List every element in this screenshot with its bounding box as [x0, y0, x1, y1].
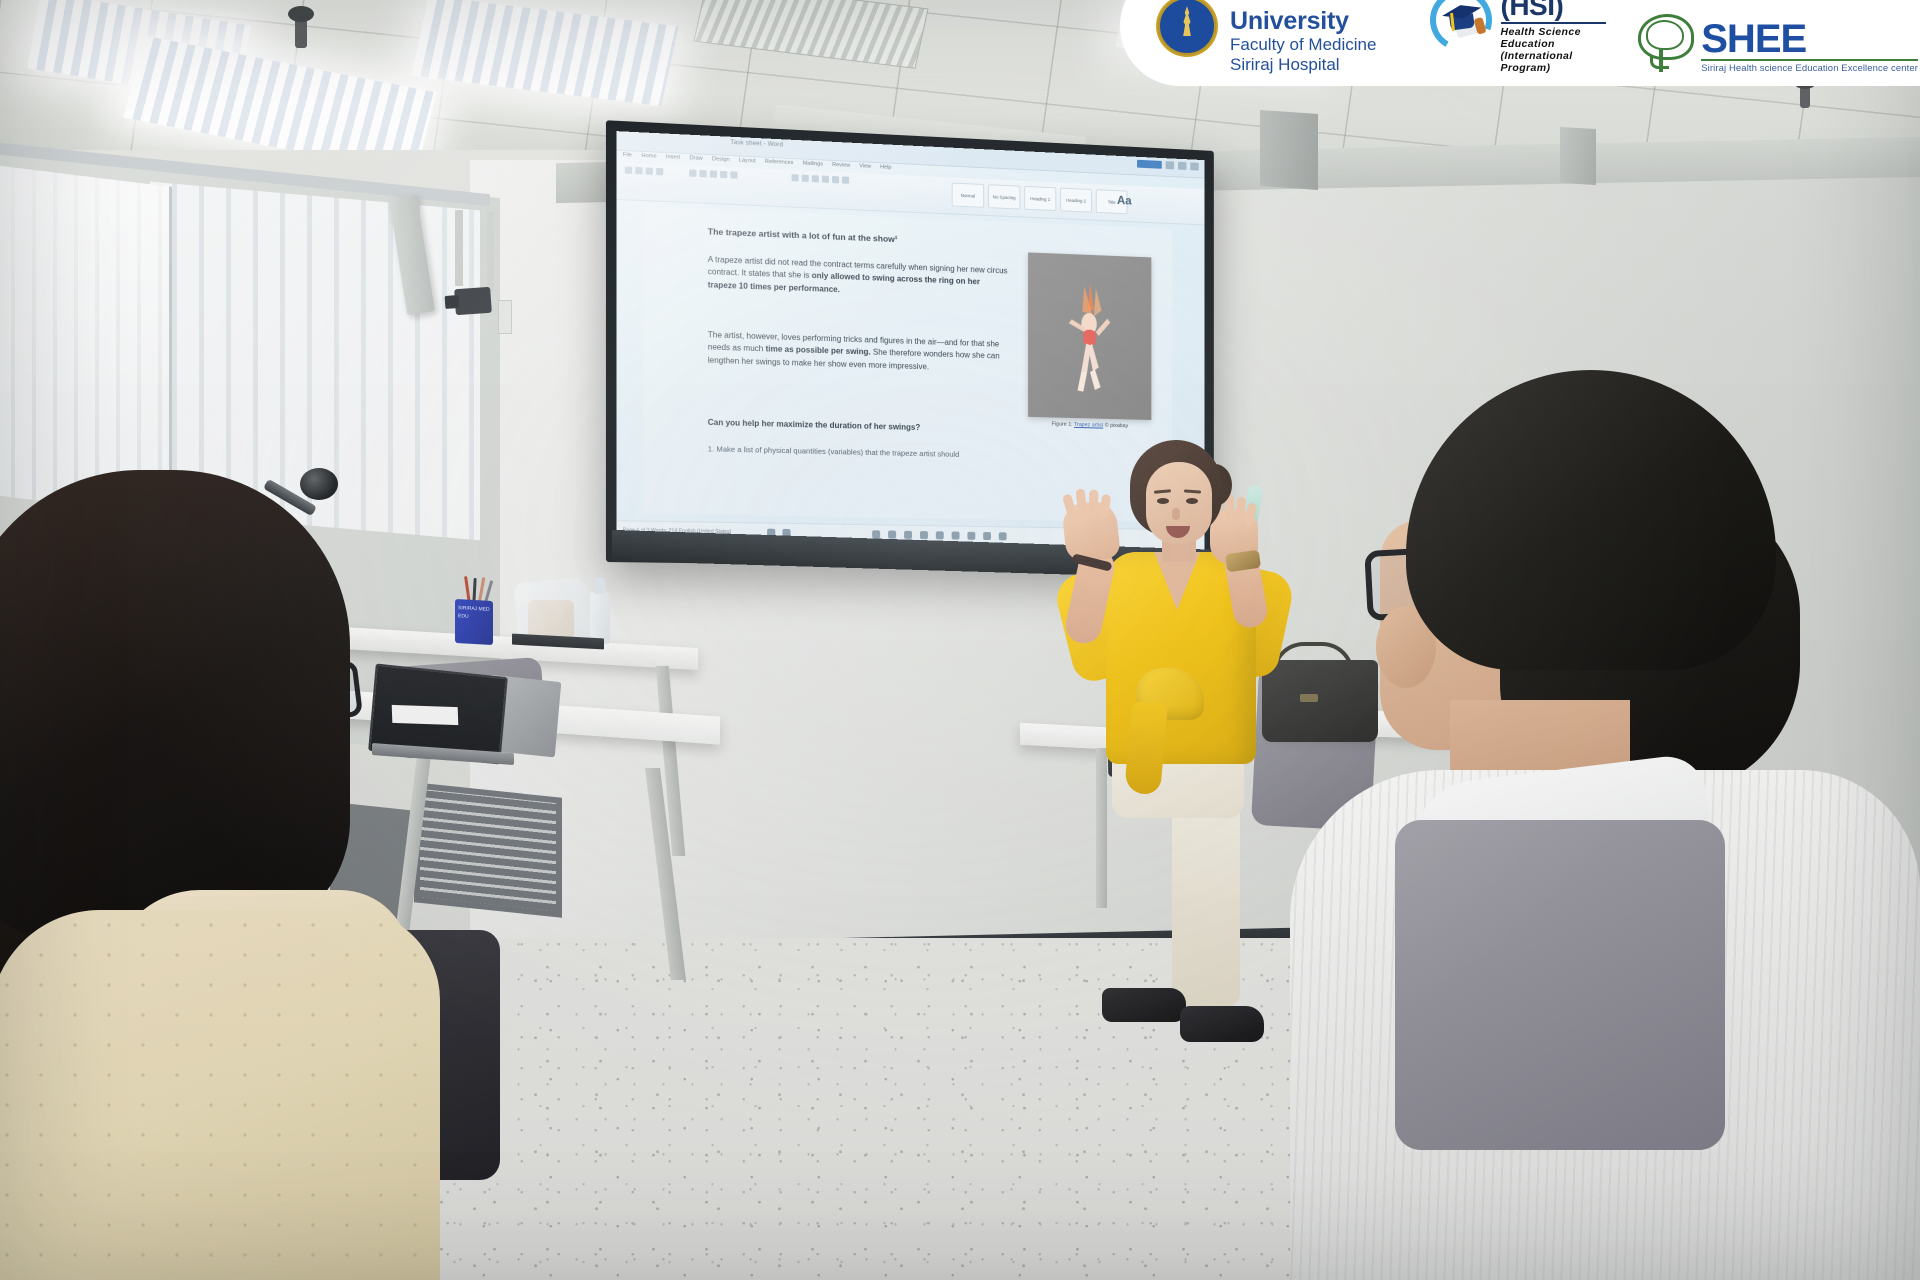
eye — [1186, 498, 1198, 504]
line-spacing-icon[interactable] — [842, 176, 849, 183]
align-left-icon[interactable] — [812, 175, 819, 182]
mahidol-line-2: Faculty of Medicine — [1230, 35, 1404, 54]
hand-sanitizer[interactable] — [590, 592, 610, 644]
chair[interactable] — [1395, 820, 1725, 1150]
tab-insert[interactable]: Insert — [666, 154, 680, 161]
mail-icon[interactable] — [920, 531, 928, 539]
eye — [1157, 498, 1169, 504]
finger — [1076, 488, 1088, 519]
presenter-shoe — [1180, 1006, 1264, 1042]
acrobat-illustration-icon — [1065, 280, 1115, 400]
bullets-icon[interactable] — [792, 174, 799, 181]
italic-icon[interactable] — [700, 170, 707, 177]
numbering-icon[interactable] — [802, 175, 809, 182]
mahidol-logo: Mahidol University Faculty of Medicine S… — [1156, 0, 1404, 74]
copy-icon[interactable] — [646, 167, 653, 174]
seal-ring — [1158, 0, 1216, 55]
tree-icon — [1632, 12, 1694, 74]
sprinkler-icon — [295, 14, 307, 48]
graduation-cap-icon — [1430, 0, 1492, 51]
shee-title: SHEE — [1701, 22, 1918, 56]
msc-subtitle-2: (International Program) — [1501, 50, 1607, 74]
msc-hsi-logo: M.Sc.(HSI) Health Science Education (Int… — [1430, 0, 1607, 74]
presenter-person — [1050, 440, 1330, 1080]
style-heading-2[interactable]: Heading 2 — [1060, 188, 1092, 213]
align-right-icon[interactable] — [832, 176, 839, 183]
audience-left-person — [0, 470, 480, 1280]
msc-subtitle-1: Health Science Education — [1501, 26, 1607, 50]
projector-mount — [455, 210, 463, 286]
format-painter-icon[interactable] — [656, 168, 663, 175]
document-figure-wrapper: Figure 1: Trapez artist © pixabay — [1028, 252, 1151, 429]
document-paragraph-1: A trapeze artist did not read the contra… — [708, 254, 1009, 303]
logo-bar: Mahidol University Faculty of Medicine S… — [1120, 0, 1920, 86]
zoom-app-icon[interactable] — [999, 532, 1007, 540]
caption-suffix: © pixabay — [1103, 423, 1128, 430]
msc-title: M.Sc.(HSI) — [1501, 0, 1607, 20]
trapeze-artist-image — [1028, 252, 1151, 420]
bold-icon[interactable] — [689, 169, 696, 176]
ribbon-clipboard-group[interactable] — [625, 166, 664, 175]
underline-icon[interactable] — [710, 170, 717, 177]
tab-mailings[interactable]: Mailings — [803, 161, 823, 168]
document-heading: The trapeze artist with a lot of fun at … — [708, 225, 1009, 251]
style-no-spacing[interactable]: No Spacing — [988, 184, 1020, 209]
shee-rule — [1701, 59, 1918, 61]
tab-review[interactable]: Review — [832, 162, 850, 169]
mahidol-line-3: Siriraj Hospital — [1230, 55, 1404, 74]
finger — [1099, 494, 1111, 519]
teams-icon[interactable] — [936, 531, 944, 539]
ribbon-styles-gallery[interactable]: Normal No Spacing Heading 1 Heading 2 Ti… — [952, 183, 1128, 215]
presenter-hand — [1061, 499, 1121, 562]
cardigan-texture — [0, 910, 440, 1280]
tab-file[interactable]: File — [623, 152, 632, 159]
shee-logo: SHEE Siriraj Health science Education Ex… — [1632, 12, 1918, 74]
minimize-button[interactable] — [1166, 161, 1175, 169]
tab-help[interactable]: Help — [880, 164, 891, 171]
start-icon[interactable] — [872, 530, 880, 538]
style-normal[interactable]: Normal — [952, 183, 984, 208]
photo-scene: ไฟฟ้า Task sheet - Word File Home Insert… — [0, 0, 1920, 1280]
font-color-icon[interactable] — [720, 171, 727, 178]
share-button[interactable] — [1137, 160, 1162, 169]
msc-rule — [1501, 22, 1607, 24]
mahidol-line-1: Mahidol University — [1230, 0, 1404, 35]
tree-canopy-inner — [1646, 20, 1684, 50]
wall-duct — [1260, 110, 1318, 190]
finger — [1089, 489, 1098, 517]
ribbon-paragraph-group[interactable] — [792, 174, 850, 184]
audience-right-hair — [1406, 370, 1776, 670]
msc-logo-text: M.Sc.(HSI) Health Science Education (Int… — [1501, 0, 1607, 74]
shee-logo-text: SHEE Siriraj Health science Education Ex… — [1701, 22, 1918, 74]
projector-icon — [454, 287, 492, 315]
tab-draw[interactable]: Draw — [690, 155, 703, 162]
wall-duct — [1560, 127, 1596, 185]
maximize-button[interactable] — [1178, 162, 1187, 170]
tab-layout[interactable]: Layout — [739, 157, 756, 164]
mahidol-seal-icon — [1156, 0, 1218, 57]
sanitizer-pump[interactable] — [594, 578, 605, 594]
highlight-icon[interactable] — [730, 171, 737, 178]
shee-subtitle: Siriraj Health science Education Excelle… — [1701, 63, 1918, 74]
font-badge: Aa — [1117, 193, 1132, 207]
presenter-shoe — [1102, 988, 1186, 1022]
align-center-icon[interactable] — [822, 176, 829, 183]
paste-icon[interactable] — [625, 166, 632, 174]
tab-view[interactable]: View — [859, 163, 871, 170]
explorer-icon[interactable] — [904, 531, 912, 539]
tree-branch — [1650, 56, 1669, 69]
projector-mount — [487, 212, 494, 292]
finger — [1062, 493, 1078, 520]
document-paragraph-2: The artist, however, loves performing tr… — [708, 329, 1009, 376]
tab-design[interactable]: Design — [712, 156, 730, 163]
paragraph-2-bold: time as possible per swing. — [766, 345, 871, 357]
nose — [1172, 508, 1180, 520]
cut-icon[interactable] — [635, 167, 642, 175]
mahidol-logo-text: Mahidol University Faculty of Medicine S… — [1230, 0, 1404, 74]
tab-references[interactable]: References — [765, 159, 794, 166]
tab-home[interactable]: Home — [641, 153, 656, 160]
audience-left-hair — [0, 470, 350, 940]
powerpoint-icon[interactable] — [967, 532, 975, 540]
close-icon[interactable] — [1190, 162, 1199, 170]
word-icon[interactable] — [952, 532, 960, 540]
ribbon-font-group[interactable] — [689, 169, 737, 178]
window-glow — [0, 165, 169, 516]
edge-icon[interactable] — [888, 531, 896, 539]
wall-plate — [498, 300, 512, 334]
style-heading-1[interactable]: Heading 1 — [1024, 186, 1056, 211]
chrome-icon[interactable] — [983, 532, 991, 540]
